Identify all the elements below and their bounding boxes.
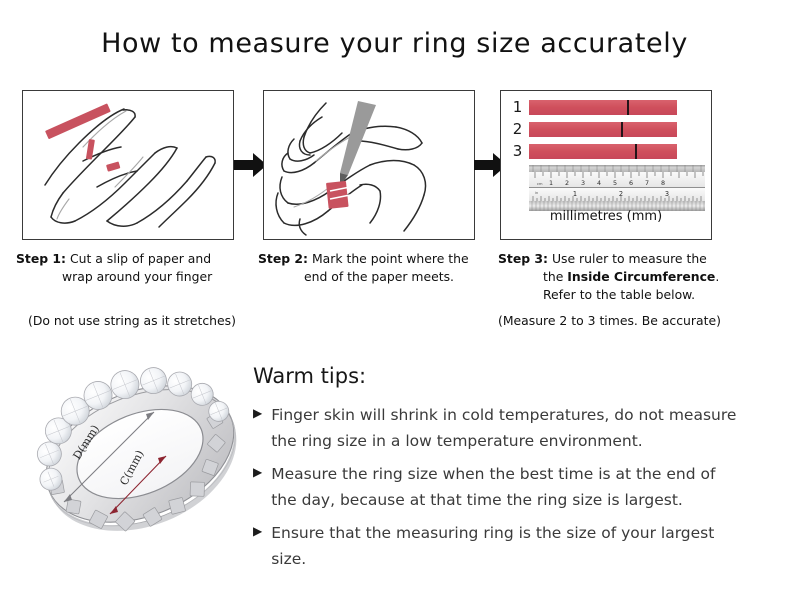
strip-number-3: 3 [509,144,526,159]
step-2-illustration-panel [263,90,475,240]
paper-strip-bar-3 [529,144,677,159]
step-2-line1: Mark the point where the [312,251,469,266]
svg-text:cm: cm [537,182,543,186]
strip-row-3: 3 [509,143,705,160]
step-1-line1: Cut a slip of paper and [70,251,211,266]
step-1-illustration-panel [22,90,234,240]
step-3-illustration-panel: 1 2 3 [500,90,712,240]
ruler-icon: 1 2 3 4 5 6 7 8 cm 1 2 3 in [529,165,705,211]
svg-text:1: 1 [573,190,577,198]
tip-text-1: Finger skin will shrink in cold temperat… [271,402,741,454]
svg-text:6: 6 [629,179,633,187]
step-3-caption: Step 3: Use ruler to measure the the Ins… [498,250,748,304]
triangle-right-bullet-icon-2: ▶ [253,461,262,484]
measured-strips-group: 1 2 3 [509,99,705,165]
paper-strip-bar-1 [529,100,677,115]
strip-mark-2 [621,122,623,137]
svg-text:3: 3 [581,179,585,187]
svg-text:2: 2 [565,179,569,187]
step-1-caption: Step 1: Cut a slip of paper and wrap aro… [16,250,251,286]
hand-with-paper-strip-illustration [23,91,233,239]
step-3-lead: Step 3: [498,251,548,266]
page-title: How to measure your ring size accurately [0,28,789,59]
warm-tips-section: Warm tips: ▶ Finger skin will shrink in … [253,364,773,579]
strip-number-1: 1 [509,100,526,115]
hand-marking-paper-with-pen-illustration [264,91,474,239]
paper-strip-red-marked [326,181,350,209]
tip-text-2: Measure the ring size when the best time… [271,461,741,513]
step-1-line2: wrap around your finger [16,268,251,286]
tip-item-1: ▶ Finger skin will shrink in cold temper… [253,402,773,454]
millimetres-caption: millimetres (mm) [501,209,711,224]
tip-text-3: Ensure that the measuring ring is the si… [271,520,741,572]
strip-mark-1 [627,100,629,115]
svg-text:3: 3 [665,190,669,198]
step-3-line2-suffix: . [715,269,719,284]
svg-text:4: 4 [597,179,601,187]
steps-row: 1 2 3 [0,90,789,240]
step-3-line2-prefix: the [543,269,567,284]
step-3-note: (Measure 2 to 3 times. Be accurate) [498,313,721,328]
step-2-caption: Step 2: Mark the point where the end of … [258,250,490,286]
step-1-lead: Step 1: [16,251,66,266]
pen-icon [340,101,376,187]
triangle-right-bullet-icon-3: ▶ [253,520,262,543]
paper-strip-red [45,103,111,139]
tip-item-3: ▶ Ensure that the measuring ring is the … [253,520,773,572]
triangle-right-bullet-icon-1: ▶ [253,402,262,425]
svg-text:8: 8 [661,179,665,187]
strip-row-2: 2 [509,121,705,138]
step-2-lead: Step 2: [258,251,308,266]
svg-text:in: in [535,191,538,195]
svg-text:5: 5 [613,179,617,187]
warm-tips-heading: Warm tips: [253,364,773,388]
step-3-line3: Refer to the table below. [498,286,748,304]
strip-row-1: 1 [509,99,705,116]
inside-circumference-emphasis: Inside Circumference [567,269,715,284]
paper-strip-bar-2 [529,122,677,137]
step-3-line1: Use ruler to measure the [552,251,707,266]
step-1-note: (Do not use string as it stretches) [28,313,236,328]
strip-mark-3 [635,144,637,159]
svg-text:1: 1 [549,179,553,187]
step-2-line2: end of the paper meets. [258,268,490,286]
svg-text:7: 7 [645,179,649,187]
tip-item-2: ▶ Measure the ring size when the best ti… [253,461,773,513]
strip-number-2: 2 [509,122,526,137]
